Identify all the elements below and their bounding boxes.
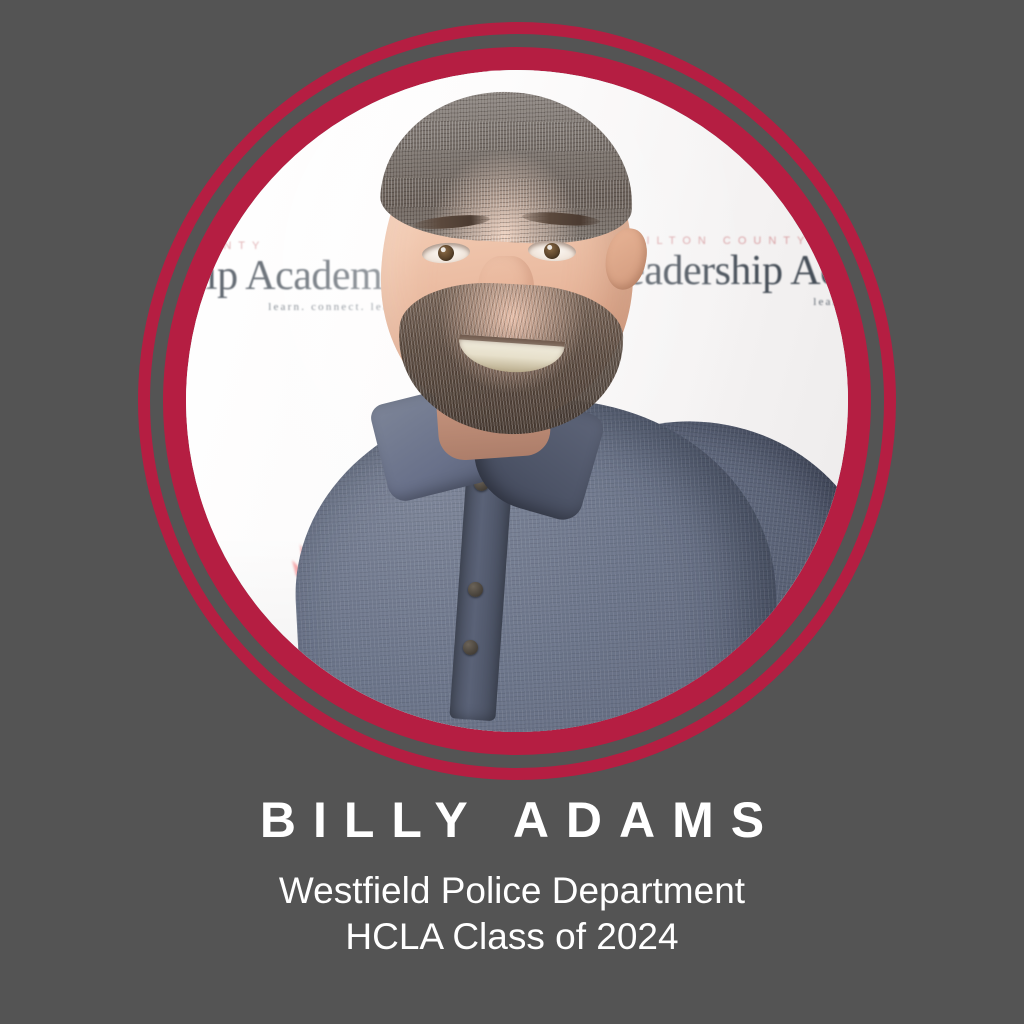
iris	[437, 244, 454, 261]
portrait-photo: HAMILTON COUNTY Leadership Academy learn…	[186, 70, 848, 732]
person-organization: Westfield Police Department	[0, 868, 1024, 914]
shirt-button	[463, 640, 478, 655]
caption-block: BILLY ADAMS Westfield Police Department …	[0, 792, 1024, 960]
portrait-badge: HAMILTON COUNTY Leadership Academy learn…	[138, 22, 896, 780]
shirt-button	[468, 582, 483, 597]
portrait-subject	[186, 70, 848, 732]
iris	[544, 243, 561, 260]
person-name: BILLY ADAMS	[0, 792, 1024, 848]
profile-card: HAMILTON COUNTY Leadership Academy learn…	[0, 0, 1024, 1024]
person-cohort: HCLA Class of 2024	[0, 914, 1024, 960]
